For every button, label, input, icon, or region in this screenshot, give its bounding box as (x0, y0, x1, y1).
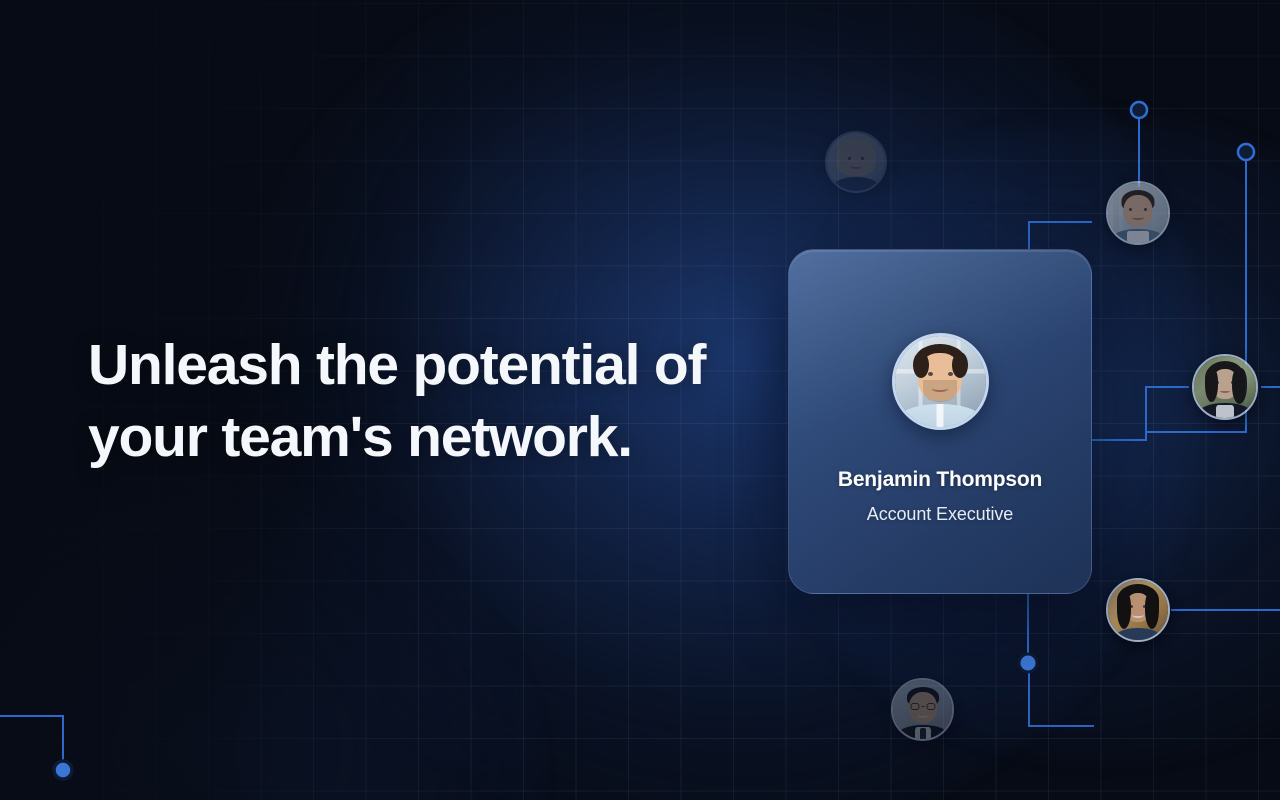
avatar-portrait-main (895, 336, 986, 427)
page-title: Unleash the potential of your team's net… (88, 330, 768, 474)
headline-line-1: Unleash the potential of (88, 330, 768, 402)
dot-bottom-left (54, 761, 72, 779)
profile-card[interactable]: Benjamin Thompson Account Executive (788, 249, 1092, 594)
avatar-portrait-node-3 (1194, 356, 1256, 418)
dot-top-1 (1131, 102, 1147, 118)
avatar-portrait-node-4 (1108, 580, 1168, 640)
profile-name: Benjamin Thompson (838, 468, 1042, 492)
profile-role: Account Executive (867, 504, 1013, 525)
dot-center (1019, 654, 1037, 672)
headline-line-2: your team's network. (88, 402, 768, 474)
connector-center-dot-down (1029, 670, 1093, 726)
network-avatar-node-1[interactable] (825, 131, 887, 193)
network-avatar-node-3[interactable] (1192, 354, 1258, 420)
avatar-portrait-node-1 (827, 133, 885, 191)
avatar-portrait-node-2 (1108, 183, 1168, 243)
network-avatar-node-2[interactable] (1106, 181, 1170, 245)
profile-avatar (892, 333, 989, 430)
hero-section: Unleash the potential of your team's net… (0, 0, 1280, 800)
network-avatar-node-4[interactable] (1106, 578, 1170, 642)
avatar-portrait-node-5 (893, 680, 952, 739)
connector-bottom-left (0, 716, 63, 763)
dot-top-2 (1238, 144, 1254, 160)
network-avatar-node-5[interactable] (891, 678, 954, 741)
